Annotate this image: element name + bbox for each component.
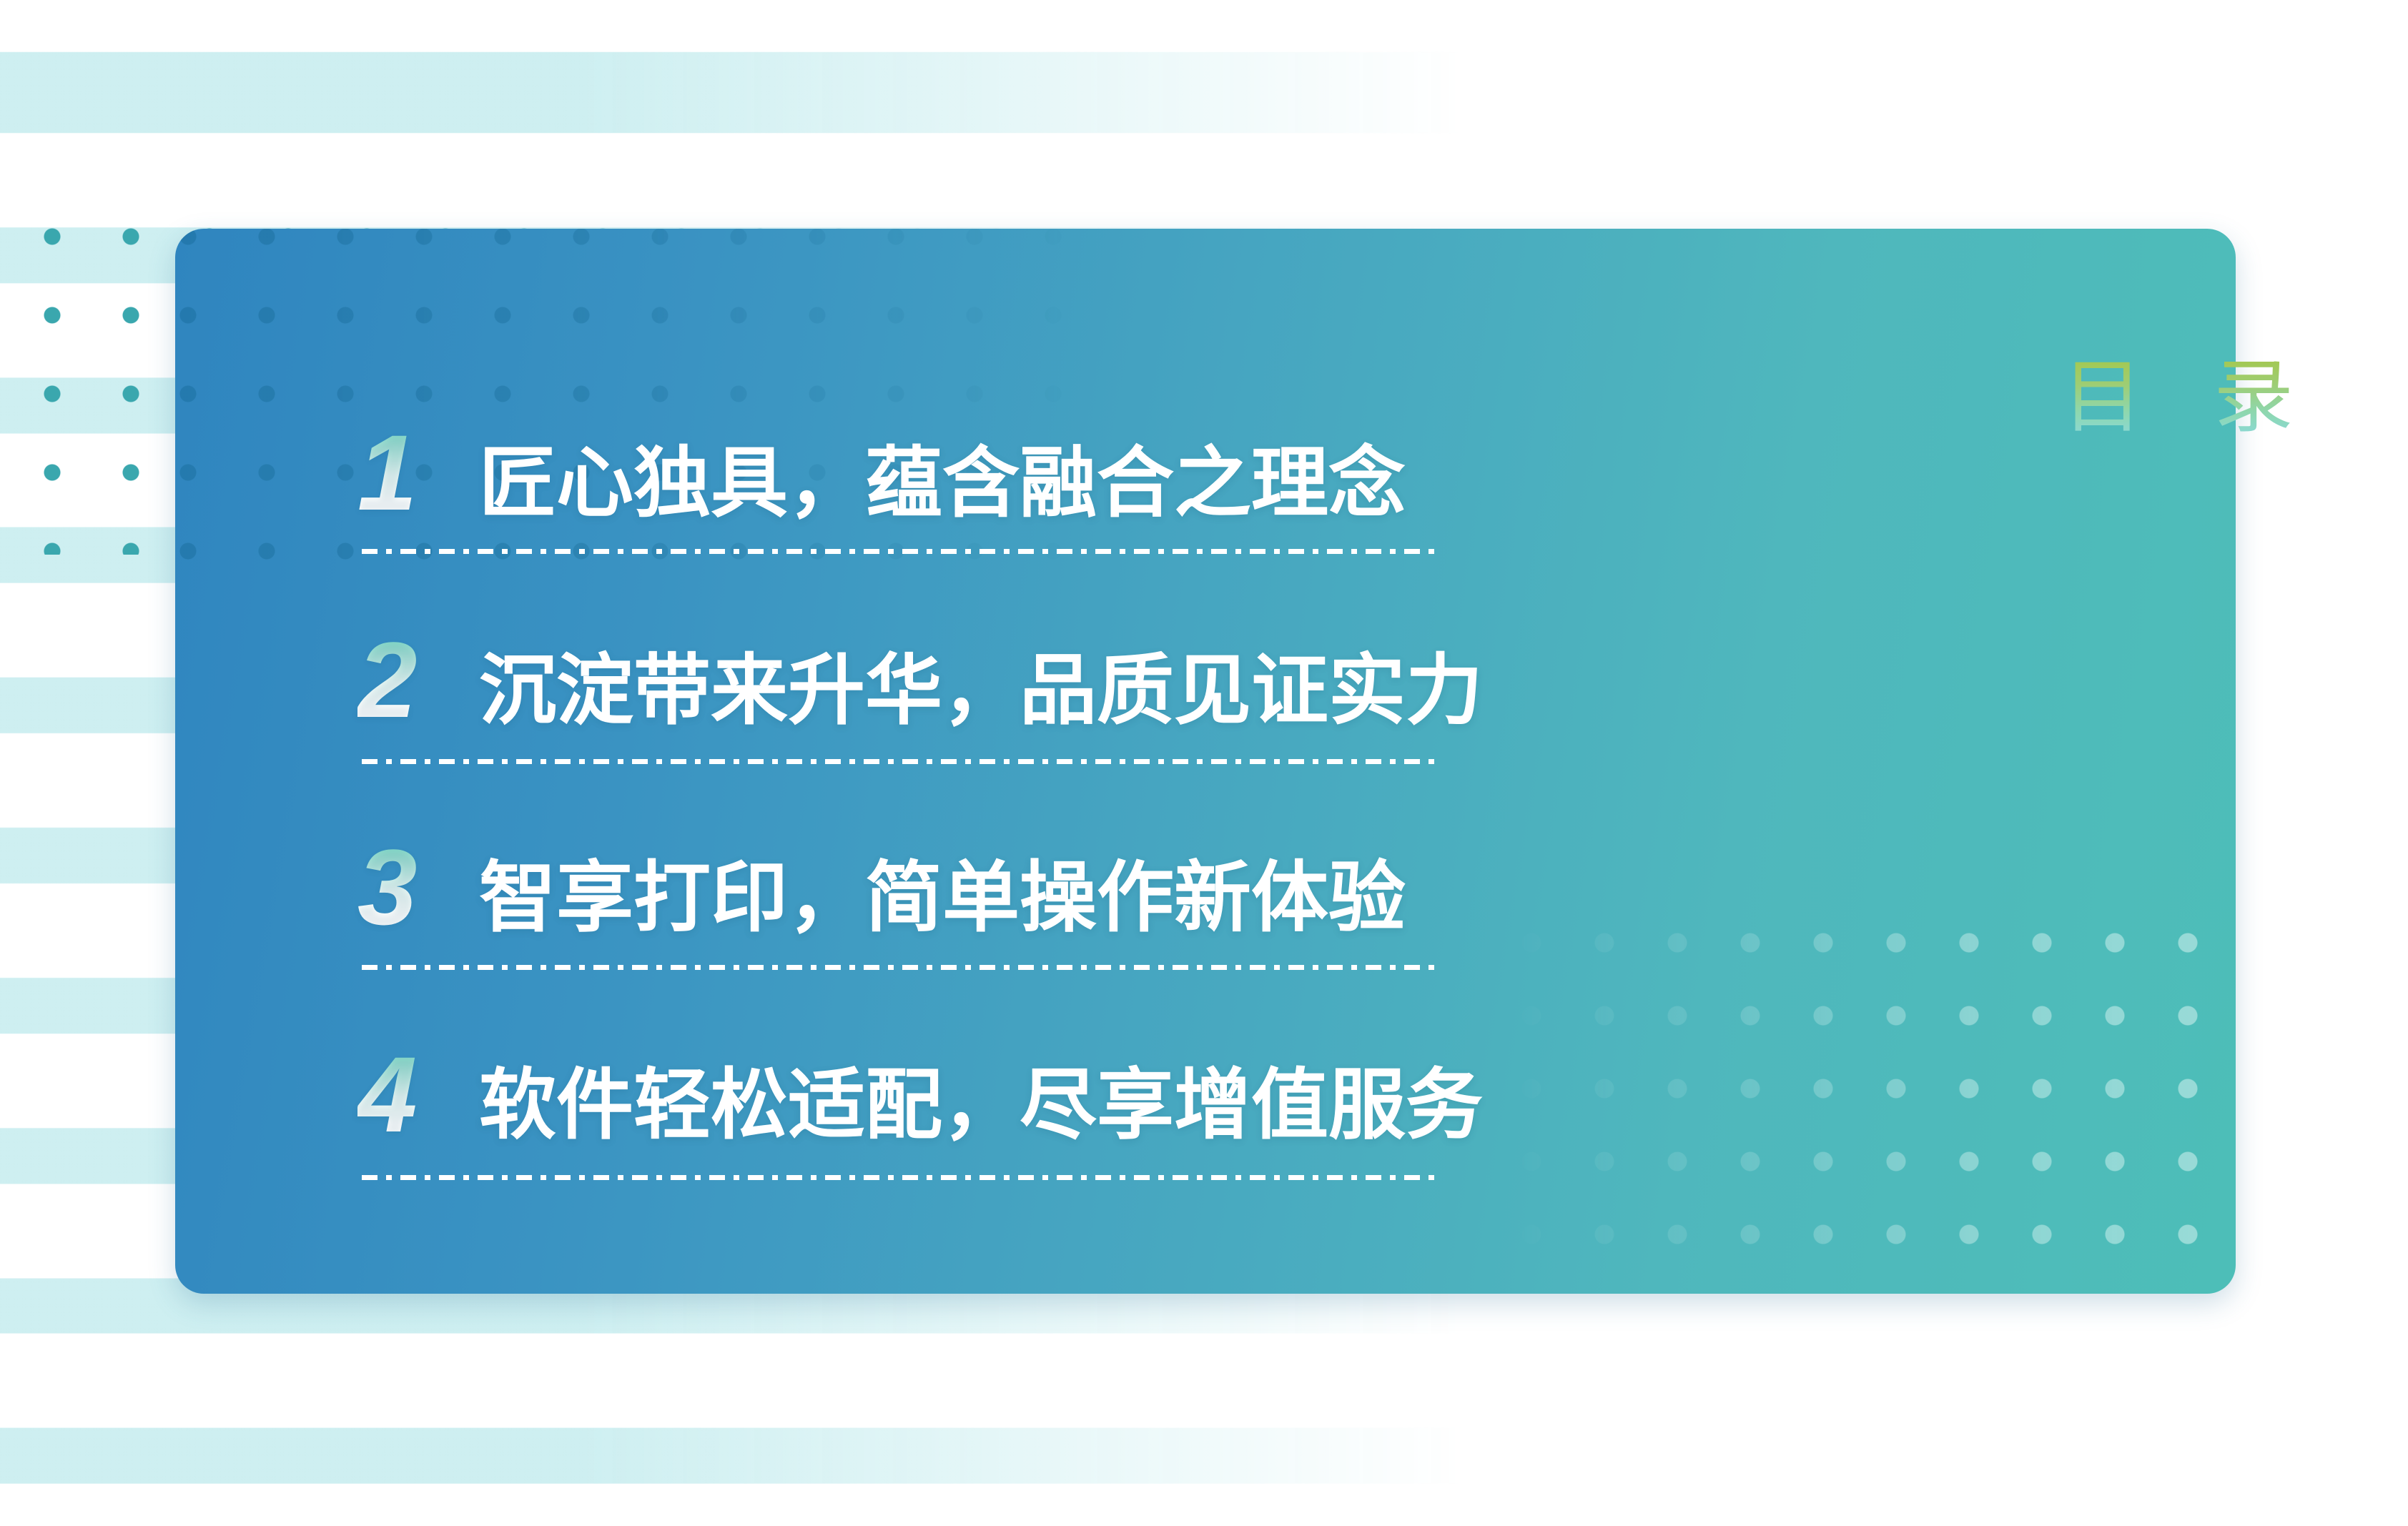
toc-item-1[interactable]: 1 匠心独具，蕴含融合之理念 bbox=[357, 419, 1444, 626]
toc-list: 1 匠心独具，蕴含融合之理念 2 沉淀带来升华，品质见证实力 3 智享打印，简单… bbox=[357, 419, 1444, 1248]
toc-item-3-label: 智享打印，简单操作新体验 bbox=[479, 859, 1406, 936]
slide-canvas: 目 录 1 匠心独具，蕴含融合之理念 2 沉淀带来升华，品质见证实力 3 智享打… bbox=[0, 0, 2408, 1526]
toc-item-1-number: 1 bbox=[357, 419, 432, 526]
toc-item-1-label: 匠心独具，蕴含融合之理念 bbox=[479, 445, 1406, 522]
toc-item-2[interactable]: 2 沉淀带来升华，品质见证实力 bbox=[357, 626, 1444, 833]
toc-item-2-number: 2 bbox=[357, 626, 432, 733]
page-title: 目 录 bbox=[2063, 357, 2318, 437]
toc-item-1-row: 1 匠心独具，蕴含融合之理念 bbox=[357, 419, 1444, 562]
toc-item-3-divider bbox=[362, 965, 1434, 970]
toc-item-2-divider bbox=[362, 759, 1434, 764]
toc-item-2-label: 沉淀带来升华，品质见证实力 bbox=[479, 652, 1483, 729]
card-dot-pattern-bottom-right-icon bbox=[1478, 893, 2236, 1294]
toc-item-2-row: 2 沉淀带来升华，品质见证实力 bbox=[357, 626, 1444, 769]
toc-item-4-number: 4 bbox=[357, 1041, 432, 1148]
toc-item-3[interactable]: 3 智享打印，简单操作新体验 bbox=[357, 833, 1444, 1041]
toc-item-3-number: 3 bbox=[357, 833, 432, 941]
toc-item-3-row: 3 智享打印，简单操作新体验 bbox=[357, 833, 1444, 976]
toc-item-4-divider bbox=[362, 1175, 1434, 1180]
toc-item-4[interactable]: 4 软件轻松适配，尽享增值服务 bbox=[357, 1041, 1444, 1248]
toc-item-4-row: 4 软件轻松适配，尽享增值服务 bbox=[357, 1041, 1444, 1184]
toc-item-4-label: 软件轻松适配，尽享增值服务 bbox=[479, 1066, 1483, 1144]
toc-item-1-divider bbox=[362, 549, 1434, 554]
